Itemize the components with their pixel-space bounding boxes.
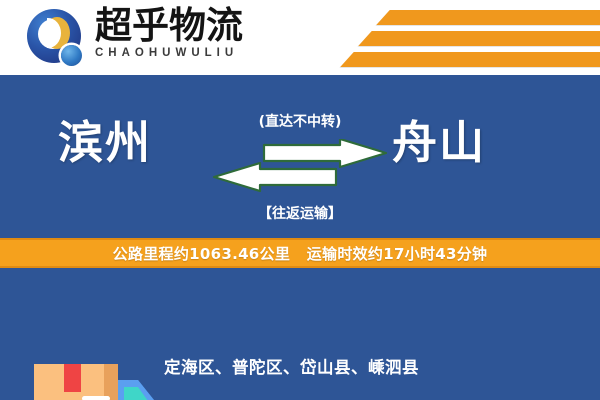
logo-accent-dot [61,45,82,66]
header-stripe-1 [376,10,600,25]
route-row: 滨州 (直达不中转) 【往返运输】 舟山 [0,75,600,238]
header-bar: 超乎物流 CHAOHUWULIU [0,0,600,75]
logistics-route-banner: 超乎物流 CHAOHUWULIU 滨州 (直达不中转) 【往返运输】 舟山 [0,0,600,400]
header-stripe-2 [358,31,600,46]
districts-label: 定海区、普陀区、岱山县、嵊泗县 [164,354,419,378]
brand-name-en: CHAOHUWULIU [95,47,265,59]
route-note-direct: (直达不中转) [212,111,388,131]
bidirectional-arrow-icon [212,139,388,195]
brand-wordmark: 超乎物流 CHAOHUWULIU [95,6,265,59]
destination-city-label: 舟山 [392,116,486,170]
main-panel: 滨州 (直达不中转) 【往返运输】 舟山 公路里程约1063.46公里 运输时效… [0,75,600,400]
delivery-truck-icon [28,356,170,400]
route-note-roundtrip: 【往返运输】 [212,203,388,223]
logo-crescent-icon [47,17,71,49]
circle-crescent-logo-icon [27,9,87,69]
route-info-text: 公路里程约1063.46公里 运输时效约17小时43分钟 [113,243,488,264]
route-middle-group: (直达不中转) 【往返运输】 [212,109,388,227]
route-info-band: 公路里程约1063.46公里 运输时效约17小时43分钟 [0,238,600,268]
brand-name-cn: 超乎物流 [95,6,265,46]
origin-city-label: 滨州 [58,116,152,170]
header-stripe-3 [340,52,600,67]
